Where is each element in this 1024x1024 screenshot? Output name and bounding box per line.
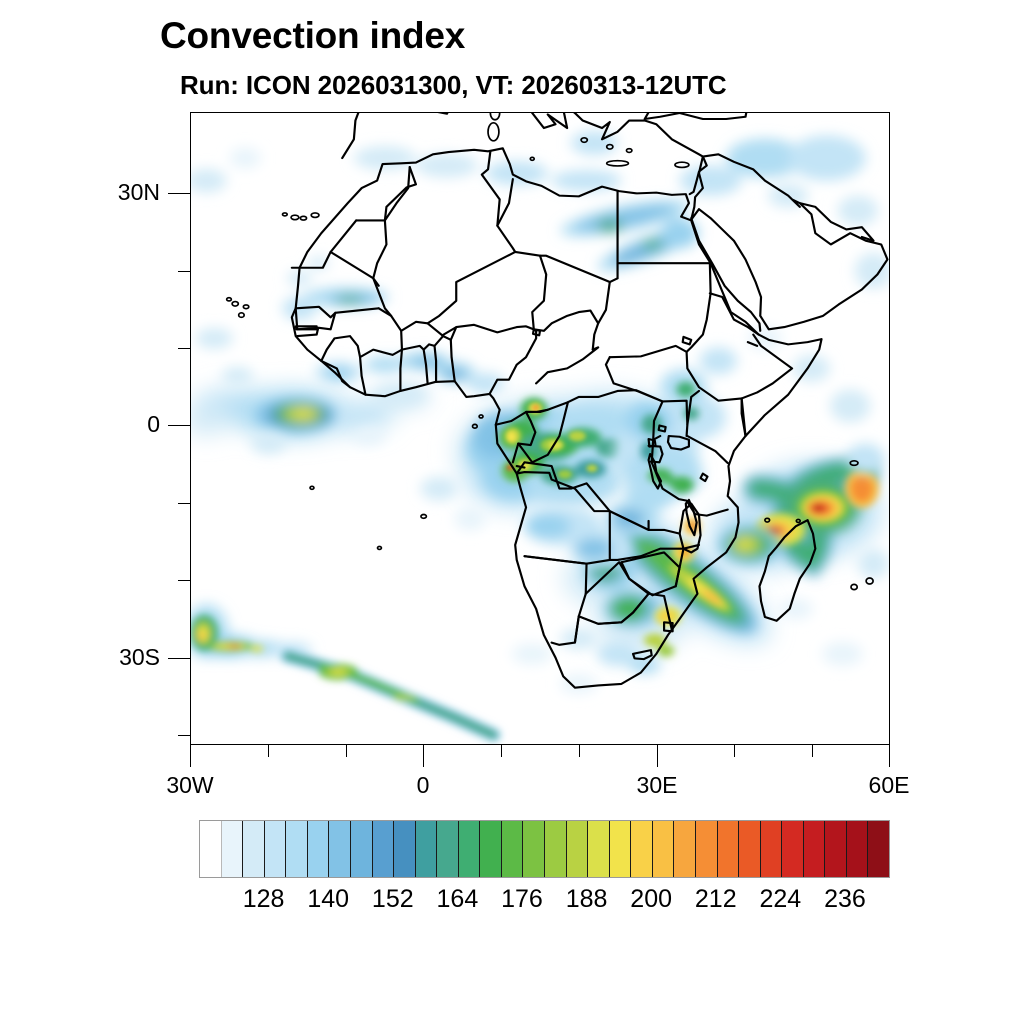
colorbar-cell-21 <box>653 821 675 877</box>
border-sudan-chad <box>593 282 610 350</box>
ytick-major-0 <box>168 425 190 426</box>
xtick-minor-20w <box>268 745 269 757</box>
colorbar-cell-13 <box>480 821 502 877</box>
colorbar-cell-7 <box>351 821 373 877</box>
ytick-minor-10n <box>178 348 190 349</box>
southwest-cold-front <box>191 604 493 735</box>
colorbar-cell-6 <box>329 821 351 877</box>
colorbar-label-212: 212 <box>695 885 737 914</box>
border-niger-libya <box>515 252 540 256</box>
colorbar-label-236: 236 <box>824 885 866 914</box>
red-sea-east <box>691 218 760 331</box>
colorbar-cell-0 <box>200 821 222 877</box>
border-car <box>536 347 598 383</box>
colorbar-label-188: 188 <box>566 885 608 914</box>
xtick-minor-10w <box>346 745 347 757</box>
colorbar-cell-31 <box>868 821 889 877</box>
colorbar-cell-19 <box>610 821 632 877</box>
border-morocco <box>356 167 416 220</box>
xtick-label-30w: 30W <box>130 772 250 799</box>
colorbar-cell-10 <box>416 821 438 877</box>
colorbar-cell-23 <box>696 821 718 877</box>
colorbar-label-152: 152 <box>372 885 414 914</box>
colorbar-cell-4 <box>286 821 308 877</box>
border-mali <box>379 308 401 331</box>
colorbar-label-140: 140 <box>307 885 349 914</box>
ytick-minor-20s <box>178 580 190 581</box>
colorbar-cell-20 <box>631 821 653 877</box>
map-plot-area <box>190 112 890 745</box>
colorbar-label-200: 200 <box>630 885 672 914</box>
xtick-label-0: 0 <box>363 772 483 799</box>
colorbar-tick-labels: 128140152164176188200212224236 <box>199 885 890 919</box>
ytick-label-30n: 30N <box>78 179 160 206</box>
map-svg <box>191 113 889 744</box>
colorbar <box>199 820 890 878</box>
xtick-label-60e: 60E <box>829 772 949 799</box>
figure-canvas: Convection index Run: ICON 2026031300, V… <box>0 0 1024 1024</box>
black-sea-coastline <box>645 113 748 119</box>
colorbar-label-176: 176 <box>501 885 543 914</box>
xtick-minor-10e <box>501 745 502 757</box>
xtick-major-60e <box>889 745 890 767</box>
page-title: Convection index <box>160 16 960 57</box>
colorbar-cell-30 <box>847 821 869 877</box>
border-chad <box>534 311 598 331</box>
madagascar-north-cloud <box>718 525 780 564</box>
convection-field <box>191 131 889 735</box>
ytick-minor-10s <box>178 503 190 504</box>
colorbar-cell-9 <box>394 821 416 877</box>
border-angola-cabinda <box>517 466 525 468</box>
ytick-minor-40s <box>178 735 190 736</box>
border-mali-niger <box>428 252 516 323</box>
colorbar-cell-22 <box>674 821 696 877</box>
colorbar-cell-12 <box>459 821 481 877</box>
colorbar-cell-18 <box>588 821 610 877</box>
ytick-major-30n <box>168 193 190 194</box>
colorbar-cell-17 <box>567 821 589 877</box>
border-sudan-ssudan <box>610 346 687 357</box>
xtick-major-30w <box>190 745 191 767</box>
colorbar-cell-8 <box>373 821 395 877</box>
tropical-cyclone <box>711 462 882 571</box>
ytick-label-30s: 30S <box>78 644 160 671</box>
colorbar-cell-16 <box>545 821 567 877</box>
colorbar-cell-3 <box>265 821 287 877</box>
colorbar-cell-11 <box>437 821 459 877</box>
colorbar-cell-29 <box>825 821 847 877</box>
border-burkina <box>401 322 443 350</box>
colorbar-label-128: 128 <box>243 885 285 914</box>
itcz-atlantic-core <box>255 398 336 431</box>
xtick-minor-50e <box>812 745 813 757</box>
border-guinea <box>321 336 360 361</box>
map-content <box>191 113 889 735</box>
xtick-minor-40e <box>734 745 735 757</box>
colorbar-cell-15 <box>523 821 545 877</box>
colorbar-cell-14 <box>502 821 524 877</box>
colorbar-cell-1 <box>222 821 244 877</box>
colorbar-cell-24 <box>718 821 740 877</box>
xtick-minor-20e <box>579 745 580 757</box>
colorbar-cell-27 <box>782 821 804 877</box>
border-chad-niger <box>532 256 546 330</box>
run-valid-time-subtitle: Run: ICON 2026031300, VT: 20260313-12UTC <box>180 70 1000 101</box>
colorbar-cell-28 <box>804 821 826 877</box>
ytick-major-30s <box>168 658 190 659</box>
ytick-label-0: 0 <box>78 411 160 438</box>
colorbar-cell-25 <box>739 821 761 877</box>
colorbar-cell-2 <box>243 821 265 877</box>
colorbar-label-164: 164 <box>437 885 479 914</box>
colorbar-cell-26 <box>761 821 783 877</box>
xtick-major-30e <box>657 745 658 767</box>
ytick-minor-20n <box>178 271 190 272</box>
xtick-label-30e: 30E <box>597 772 717 799</box>
border-mali-mauritania <box>331 252 379 286</box>
colorbar-label-224: 224 <box>759 885 801 914</box>
colorbar-cell-5 <box>308 821 330 877</box>
xtick-major-0 <box>423 745 424 767</box>
